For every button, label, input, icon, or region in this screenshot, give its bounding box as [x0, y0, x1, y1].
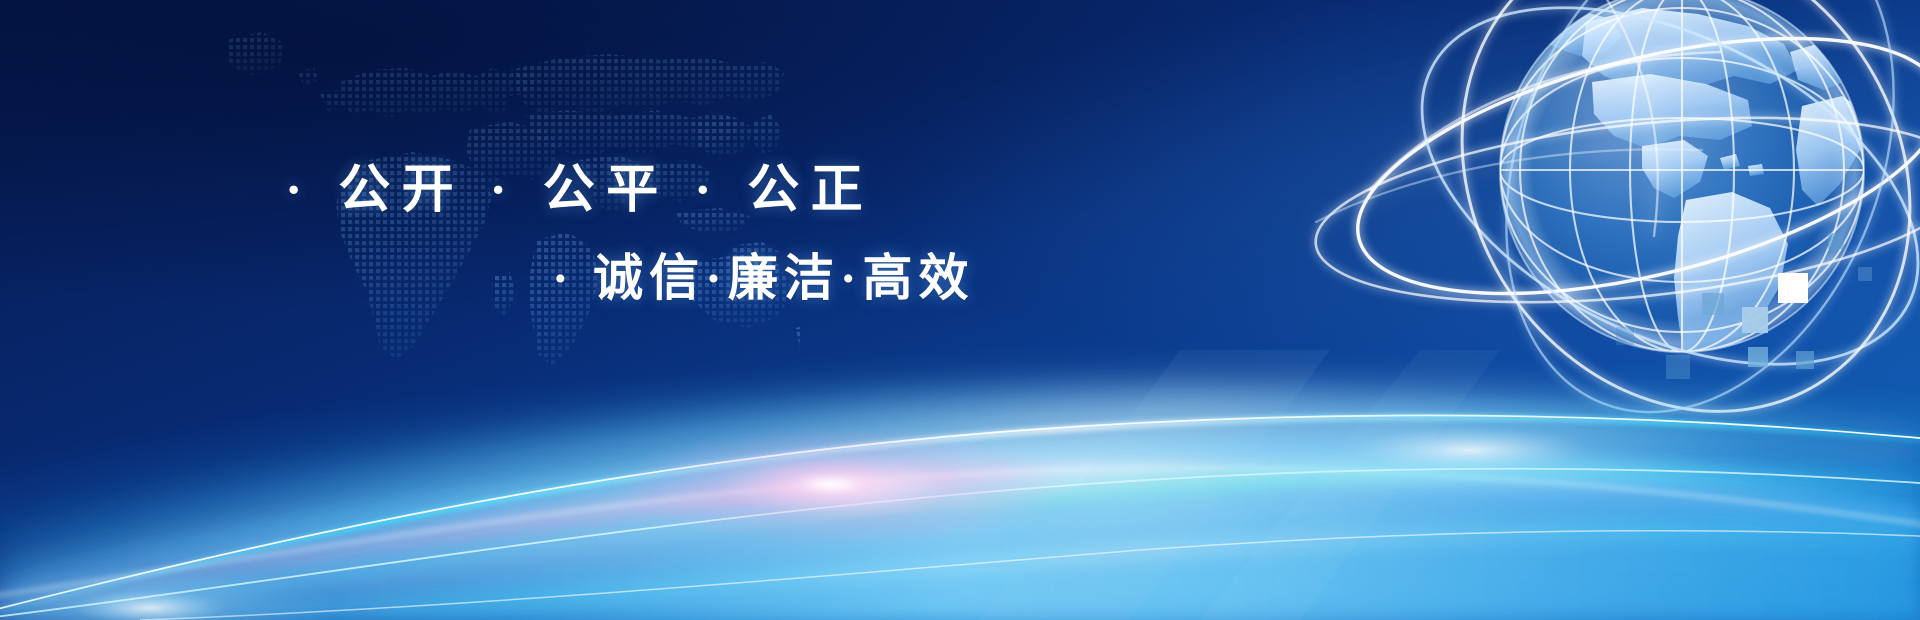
- slogan-block: · 公开 · 公平 · 公正 · 诚信·廉洁·高效: [0, 0, 1100, 340]
- decorative-square: [1666, 355, 1690, 379]
- banner-root: · 公开 · 公平 · 公正 · 诚信·廉洁·高效: [0, 0, 1920, 620]
- decorative-squares: [1600, 215, 1920, 445]
- decorative-square: [1616, 327, 1634, 345]
- slogan-line-1: · 公开 · 公平 · 公正: [285, 147, 874, 222]
- decorative-square: [1702, 293, 1724, 315]
- decorative-square: [1742, 307, 1768, 333]
- globe-graphic: [1250, 0, 1920, 430]
- decorative-square: [1748, 347, 1768, 367]
- decorative-square: [1858, 267, 1872, 281]
- slogan-line-2: · 诚信·廉洁·高效: [552, 238, 975, 310]
- decorative-square: [1796, 351, 1814, 369]
- decorative-square: [1778, 273, 1808, 303]
- decorative-square: [1828, 233, 1844, 249]
